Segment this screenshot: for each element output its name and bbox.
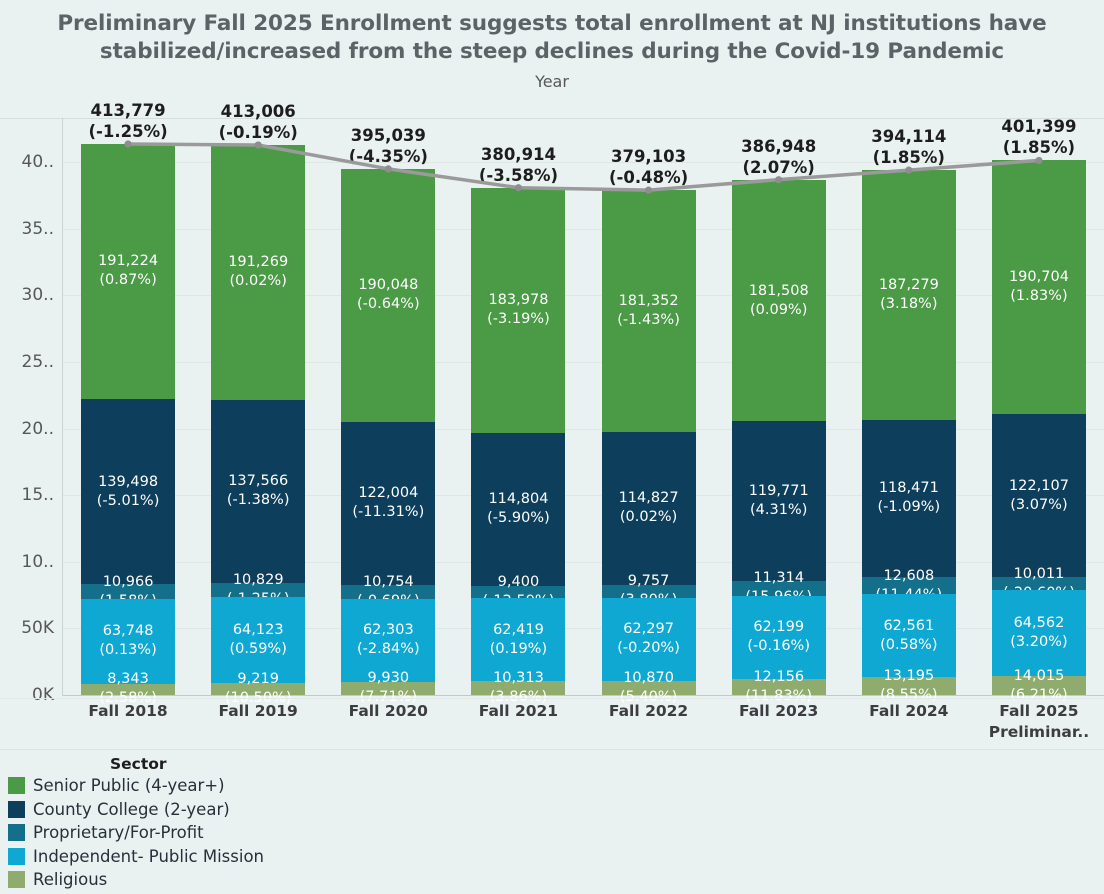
bar-segment[interactable]: 64,123(0.59%) [211,597,305,682]
segment-percent: (-5.90%) [471,509,565,528]
segment-percent: (0.02%) [602,508,696,527]
segment-value: 137,566 [228,473,288,489]
bar-segment[interactable]: 114,827(0.02%) [602,432,696,585]
legend-color-swatch [8,801,25,818]
legend-color-swatch [8,777,25,794]
bar-segment[interactable]: 191,224(0.87%) [81,144,175,399]
x-axis-tick[interactable]: Fall 2025 Preliminar.. [974,701,1104,743]
bar-total-label: 379,103(-0.48%) [588,146,710,188]
bar-group[interactable]: 190,704(1.83%)122,107(3.07%)10,011(-20.6… [992,160,1086,695]
segment-value: 62,561 [883,618,934,634]
segment-percent: (0.09%) [732,301,826,320]
total-value: 413,006 [197,101,319,122]
bar-segment-label: 190,048(-0.64%) [341,276,435,314]
total-value: 413,779 [67,100,189,121]
bar-segment-label: 181,508(0.09%) [732,282,826,320]
bar-segment[interactable]: 122,107(3.07%) [992,414,1086,577]
bar-group[interactable]: 191,269(0.02%)137,566(-1.38%)10,829(-1.2… [211,145,305,695]
total-percent: (-0.19%) [197,122,319,143]
segment-value: 183,978 [488,292,548,308]
bar-segment[interactable]: 9,219(10.50%) [211,683,305,695]
bar-segment-label: 191,224(0.87%) [81,252,175,290]
page-title: Preliminary Fall 2025 Enrollment suggest… [0,0,1104,70]
segment-percent: (3.07%) [992,496,1086,515]
bar-segment[interactable]: 139,498(-5.01%) [81,399,175,585]
bar-segment[interactable]: 62,419(0.19%) [471,598,565,681]
bar-segment[interactable]: 10,966(1.58%) [81,584,175,599]
segment-percent: (3.18%) [862,295,956,314]
y-axis-tick: 40.. [22,152,54,172]
segment-percent: (-1.09%) [862,498,956,517]
legend-item[interactable]: Senior Public (4-year+) [0,774,1104,798]
bar-segment[interactable]: 9,757(3.80%) [602,585,696,598]
segment-percent: (-1.43%) [602,311,696,330]
bar-group[interactable]: 187,279(3.18%)118,471(-1.09%)12,608(11.4… [862,170,956,695]
bar-segment[interactable]: 190,704(1.83%) [992,160,1086,414]
bar-segment[interactable]: 119,771(4.31%) [732,421,826,581]
total-percent: (-0.48%) [588,167,710,188]
bar-segment[interactable]: 114,804(-5.90%) [471,433,565,586]
segment-value: 64,562 [1014,615,1065,631]
x-axis-title: Year [0,70,1104,92]
segment-value: 63,748 [103,623,154,639]
segment-percent: (0.87%) [81,271,175,290]
segment-value: 62,303 [363,622,414,638]
segment-percent: (3.20%) [992,633,1086,652]
segment-percent: (0.19%) [471,640,565,659]
segment-value: 191,269 [228,254,288,270]
bar-group[interactable]: 181,352(-1.43%)114,827(0.02%)9,757(3.80%… [602,190,696,695]
bar-segment[interactable]: 64,562(3.20%) [992,590,1086,676]
segment-percent: (-2.84%) [341,640,435,659]
bar-segment-label: 190,704(1.83%) [992,268,1086,306]
bar-total-label: 401,399(1.85%) [978,116,1100,158]
segment-percent: (0.59%) [211,640,305,659]
bar-segment[interactable]: 181,508(0.09%) [732,180,826,422]
segment-percent: (1.83%) [992,287,1086,306]
bar-segment[interactable]: 122,004(-11.31%) [341,422,435,584]
total-value: 394,114 [848,126,970,147]
bar-segment[interactable]: 13,195(8.55%) [862,677,956,695]
bar-segment-label: 64,123(0.59%) [211,621,305,659]
bar-segment-label: 139,498(-5.01%) [81,473,175,511]
bar-segment[interactable]: 8,343(2.58%) [81,684,175,695]
x-axis-tick[interactable]: Fall 2023 [714,701,844,722]
segment-percent: (-5.01%) [81,492,175,511]
bar-segment-label: 191,269(0.02%) [211,253,305,291]
segment-value: 122,107 [1009,478,1069,494]
segment-percent: (-11.31%) [341,503,435,522]
legend-rows: Senior Public (4-year+)County College (2… [0,774,1104,892]
legend-item[interactable]: Proprietary/For-Profit [0,821,1104,845]
bar-segment-label: 181,352(-1.43%) [602,292,696,330]
segment-value: 190,048 [358,277,418,293]
bar-segment-label: 118,471(-1.09%) [862,479,956,517]
bar-segment[interactable]: 62,199(-0.16%) [732,596,826,679]
total-value: 395,039 [327,125,449,146]
bar-segment-label: 114,827(0.02%) [602,489,696,527]
y-axis-tick: 20.. [22,419,54,439]
bar-segment[interactable]: 10,829(-1.25%) [211,583,305,597]
bar-segment[interactable]: 137,566(-1.38%) [211,400,305,583]
segment-percent: (-0.20%) [602,639,696,658]
legend-item-label: Proprietary/For-Profit [33,823,204,842]
total-percent: (1.85%) [978,137,1100,158]
bar-segment[interactable]: 14,015(6.21%) [992,676,1086,695]
total-value: 386,948 [718,136,840,157]
bar-segment[interactable]: 10,870(5.40%) [602,681,696,695]
segment-value: 122,004 [358,485,418,501]
bar-group[interactable]: 191,224(0.87%)139,498(-5.01%)10,966(1.58… [81,144,175,695]
total-value: 380,914 [457,144,579,165]
segment-value: 62,199 [753,619,804,635]
bar-segment-label: 62,297(-0.20%) [602,620,696,658]
bar-total-label: 394,114(1.85%) [848,126,970,168]
y-axis-tick: 30.. [22,285,54,305]
segment-value: 64,123 [233,622,284,638]
bar-segment[interactable]: 62,303(-2.84%) [341,599,435,682]
legend-item[interactable]: Religious [0,868,1104,892]
bar-segment[interactable]: 191,269(0.02%) [211,145,305,400]
x-axis-tick[interactable]: Fall 2019 [193,701,323,722]
segment-value: 62,419 [493,622,544,638]
total-percent: (-3.58%) [457,165,579,186]
y-axis-tick: 10.. [22,552,54,572]
total-percent: (-1.25%) [67,121,189,142]
segment-value: 62,297 [623,621,674,637]
segment-percent: (-0.64%) [341,295,435,314]
legend-title: Sector [0,752,1104,774]
segment-percent: (-3.19%) [471,310,565,329]
bar-segment[interactable]: 9,400(-12.59%) [471,586,565,599]
bar-segment-label: 137,566(-1.38%) [211,472,305,510]
bar-segment[interactable]: 11,314(15.96%) [732,581,826,596]
bar-segment[interactable]: 187,279(3.18%) [862,170,956,419]
bar-segment[interactable]: 10,313(3.86%) [471,681,565,695]
segment-percent: (0.58%) [862,636,956,655]
legend-item-label: Senior Public (4-year+) [33,776,225,795]
legend-item-label: Independent- Public Mission [33,847,264,866]
bar-segment-label: 62,561(0.58%) [862,617,956,655]
legend-item-label: County College (2-year) [33,800,230,819]
bar-segment-label: 62,199(-0.16%) [732,618,826,656]
legend-item[interactable]: County College (2-year) [0,798,1104,822]
bar-segment[interactable]: 62,297(-0.20%) [602,598,696,681]
bar-segment-label: 114,804(-5.90%) [471,490,565,528]
segment-value: 114,827 [619,490,679,506]
bar-total-label: 380,914(-3.58%) [457,144,579,186]
segment-value: 190,704 [1009,269,1069,285]
segment-value: 139,498 [98,474,158,490]
segment-percent: (-1.38%) [211,491,305,510]
bar-segment[interactable]: 181,352(-1.43%) [602,190,696,432]
segment-value: 114,804 [488,491,548,507]
legend-color-swatch [8,848,25,865]
bar-total-label: 413,779(-1.25%) [67,100,189,142]
bar-segment[interactable]: 183,978(-3.19%) [471,188,565,433]
y-axis-tick: 35.. [22,219,54,239]
bar-segment-label: 62,419(0.19%) [471,621,565,659]
bar-segment[interactable]: 12,608(11.44%) [862,577,956,594]
legend-color-swatch [8,871,25,888]
bar-segment-label: 119,771(4.31%) [732,482,826,520]
bar-group[interactable]: 183,978(-3.19%)114,804(-5.90%)9,400(-12.… [471,188,565,695]
total-value: 379,103 [588,146,710,167]
total-value: 401,399 [978,116,1100,137]
segment-value: 119,771 [749,483,809,499]
bar-total-label: 386,948(2.07%) [718,136,840,178]
bar-segment-label: 64,562(3.20%) [992,614,1086,652]
x-axis-tick[interactable]: Fall 2021 [453,701,583,722]
x-axis-tick[interactable]: Fall 2024 [844,701,974,722]
segment-percent: (4.31%) [732,501,826,520]
plot-frame: 0K50K10..15..20..25..30..35..40.. 191,22… [0,118,1104,696]
x-axis-labels: Fall 2018Fall 2019Fall 2020Fall 2021Fall… [63,697,1104,749]
total-percent: (1.85%) [848,147,970,168]
bar-segment[interactable]: 10,754(-0.69%) [341,585,435,599]
x-axis-tick[interactable]: Fall 2022 [584,701,714,722]
legend: Sector Senior Public (4-year+)County Col… [0,752,1104,894]
bar-segment[interactable]: 190,048(-0.64%) [341,169,435,422]
x-axis-bottom-border [0,749,1104,750]
bar-segment-label: 122,107(3.07%) [992,477,1086,515]
bar-group[interactable]: 181,508(0.09%)119,771(4.31%)11,314(15.96… [732,180,826,695]
bar-segment-label: 122,004(-11.31%) [341,484,435,522]
segment-percent: (-0.16%) [732,637,826,656]
bar-total-label: 413,006(-0.19%) [197,101,319,143]
x-axis-tick[interactable]: Fall 2020 [323,701,453,722]
bar-segment[interactable]: 118,471(-1.09%) [862,420,956,578]
bar-total-label: 395,039(-4.35%) [327,125,449,167]
segment-percent: (0.02%) [211,272,305,291]
bar-segment-label: 62,303(-2.84%) [341,621,435,659]
bar-segment-label: 63,748(0.13%) [81,622,175,660]
bar-segment[interactable]: 9,930(7.71%) [341,682,435,695]
y-axis-tick: 50K [21,618,54,638]
legend-color-swatch [8,824,25,841]
bar-group[interactable]: 190,048(-0.64%)122,004(-11.31%)10,754(-0… [341,169,435,695]
x-axis-tick[interactable]: Fall 2018 [63,701,193,722]
bar-segment-label: 187,279(3.18%) [862,276,956,314]
bar-segment[interactable]: 62,561(0.58%) [862,594,956,677]
segment-percent: (0.13%) [81,641,175,660]
bar-segment-label: 183,978(-3.19%) [471,291,565,329]
bar-segment[interactable]: 63,748(0.13%) [81,599,175,684]
plot-area: 191,224(0.87%)139,498(-5.01%)10,966(1.58… [63,118,1104,696]
bar-segment[interactable]: 10,011(-20.60%) [992,577,1086,590]
y-axis: 0K50K10..15..20..25..30..35..40.. [0,118,62,696]
y-axis-tick: 15.. [22,485,54,505]
segment-value: 181,352 [619,293,679,309]
total-percent: (-4.35%) [327,146,449,167]
segment-value: 181,508 [749,283,809,299]
bar-segment[interactable]: 12,156(11.83%) [732,679,826,695]
x-baseline [63,695,1104,696]
total-percent: (2.07%) [718,157,840,178]
segment-value: 118,471 [879,480,939,496]
segment-value: 191,224 [98,253,158,269]
y-axis-tick: 0K [32,685,54,705]
legend-item-label: Religious [33,870,107,889]
segment-value: 187,279 [879,277,939,293]
legend-item[interactable]: Independent- Public Mission [0,845,1104,869]
y-axis-tick: 25.. [22,352,54,372]
